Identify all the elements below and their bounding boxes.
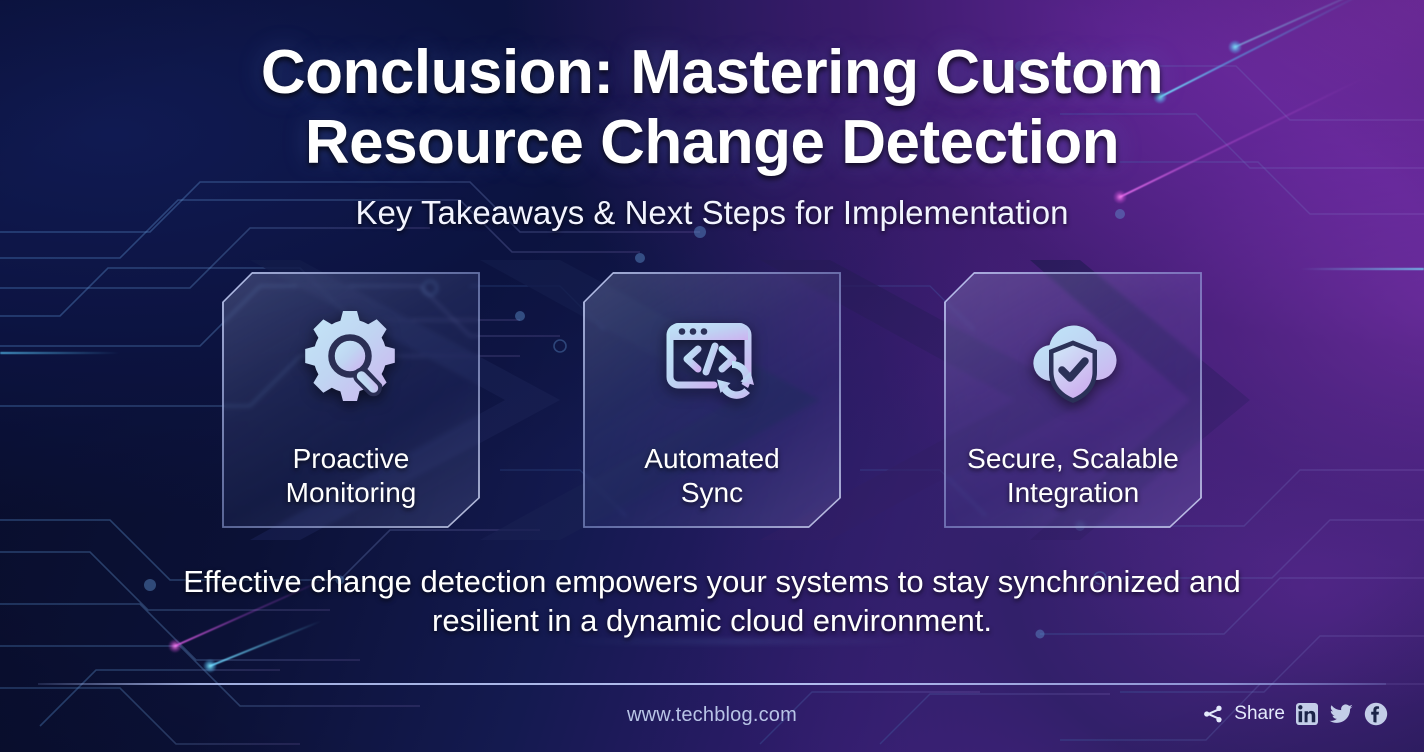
facebook-icon[interactable] (1364, 702, 1388, 726)
feature-card-label: Secure, Scalable Integration (967, 442, 1179, 510)
share-label: Share (1234, 703, 1285, 725)
feature-card-row: Proactive Monitoring (0, 272, 1424, 530)
share-nodes-icon[interactable] (1202, 703, 1224, 725)
linkedin-icon[interactable] (1295, 702, 1319, 726)
page-subtitle: Key Takeaways & Next Steps for Implement… (0, 193, 1424, 233)
cloud-shield-check-icon (1017, 306, 1129, 414)
feature-card-proactive-monitoring[interactable]: Proactive Monitoring (222, 272, 480, 528)
feature-card-automated-sync[interactable]: Automated Sync (583, 272, 841, 528)
footer-divider (38, 683, 1386, 685)
share-group: Share (1202, 702, 1388, 726)
twitter-icon[interactable] (1329, 702, 1354, 726)
summary-text: Effective change detection empowers your… (0, 562, 1424, 640)
feature-card-label: Proactive Monitoring (286, 442, 417, 510)
gear-magnifier-icon (295, 306, 407, 414)
slide-canvas: Conclusion: Mastering Custom Resource Ch… (0, 0, 1424, 752)
page-title: Conclusion: Mastering Custom Resource Ch… (0, 38, 1424, 178)
feature-card-label: Automated Sync (644, 442, 779, 510)
code-window-sync-icon (656, 306, 768, 414)
feature-card-secure-scalable-integration[interactable]: Secure, Scalable Integration (944, 272, 1202, 528)
